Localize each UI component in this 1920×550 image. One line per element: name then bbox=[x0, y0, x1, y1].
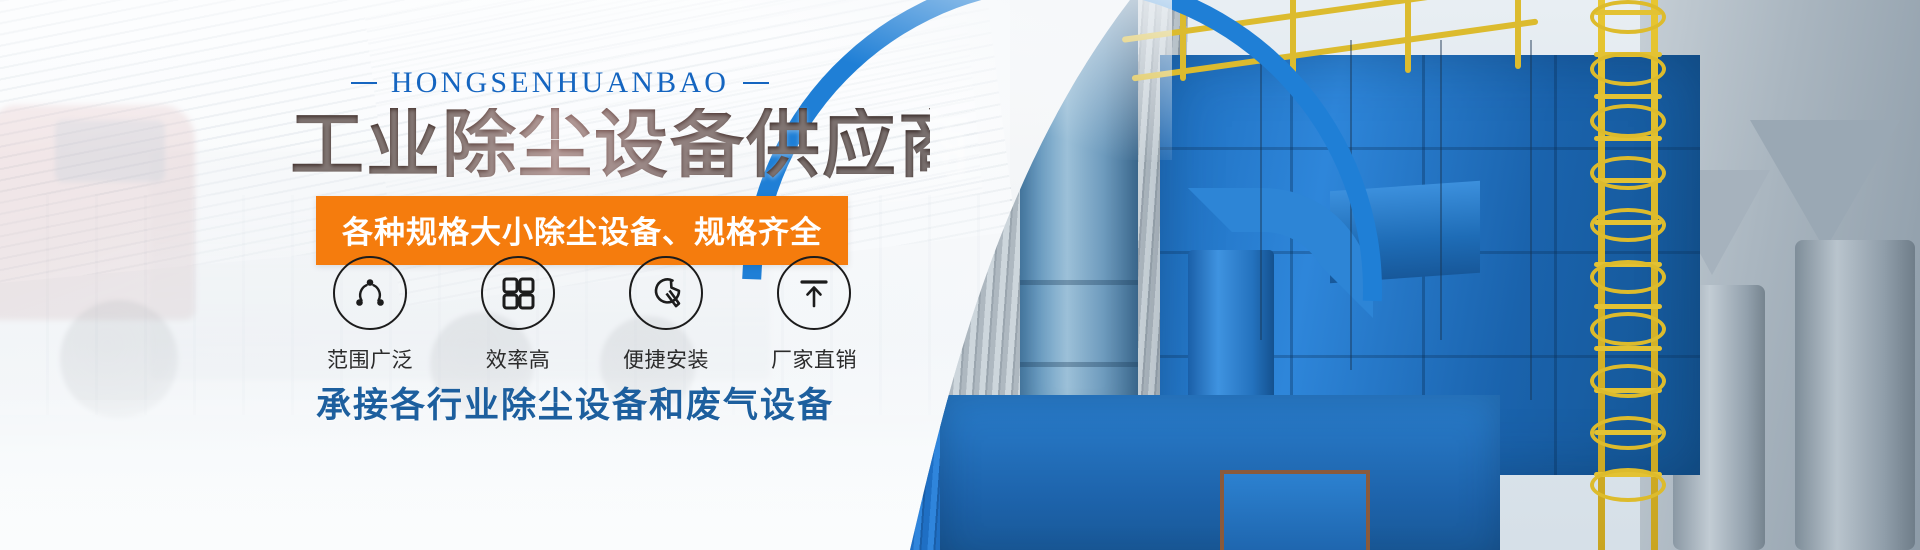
banner-headline: 工业除尘设备供应商 bbox=[290, 108, 930, 182]
yellow-caged-ladder bbox=[1590, 0, 1666, 550]
steel-cylinder bbox=[1795, 240, 1915, 550]
feature-label: 效率高 bbox=[486, 344, 551, 374]
access-door bbox=[1220, 470, 1370, 550]
feature-label: 厂家直销 bbox=[771, 344, 857, 374]
dash-left-icon bbox=[351, 82, 377, 84]
arrow-up-bar-icon bbox=[777, 256, 851, 330]
dash-right-icon bbox=[743, 82, 769, 84]
brand-eyebrow: HONGSENHUANBAO bbox=[350, 66, 770, 100]
wrench-icon bbox=[629, 256, 703, 330]
hopper-cone bbox=[1750, 120, 1900, 250]
feature-label: 便捷安装 bbox=[623, 344, 709, 374]
banner-content: HONGSENHUANBAO 工业除尘设备供应商 各种规格大小除尘设备、规格齐全… bbox=[0, 0, 920, 550]
feature-item-factory-direct[interactable]: 厂家直销 bbox=[760, 256, 868, 374]
promo-banner: HONGSENHUANBAO 工业除尘设备供应商 各种规格大小除尘设备、规格齐全… bbox=[0, 0, 1920, 550]
share-network-icon bbox=[333, 256, 407, 330]
feature-item-high-efficiency[interactable]: 效率高 bbox=[464, 256, 572, 374]
tagline-badge: 各种规格大小除尘设备、规格齐全 bbox=[316, 196, 848, 265]
feature-item-wide-range[interactable]: 范围广泛 bbox=[316, 256, 424, 374]
feature-list: 范围广泛 效率高 bbox=[316, 256, 868, 374]
top-walkway bbox=[1120, 0, 1550, 110]
grid-squares-icon bbox=[481, 256, 555, 330]
banner-subtext: 承接各行业除尘设备和废气设备 bbox=[316, 377, 834, 428]
feature-label: 范围广泛 bbox=[327, 344, 413, 374]
brand-pinyin: HONGSENHUANBAO bbox=[391, 66, 729, 100]
feature-item-easy-install[interactable]: 便捷安装 bbox=[612, 256, 720, 374]
